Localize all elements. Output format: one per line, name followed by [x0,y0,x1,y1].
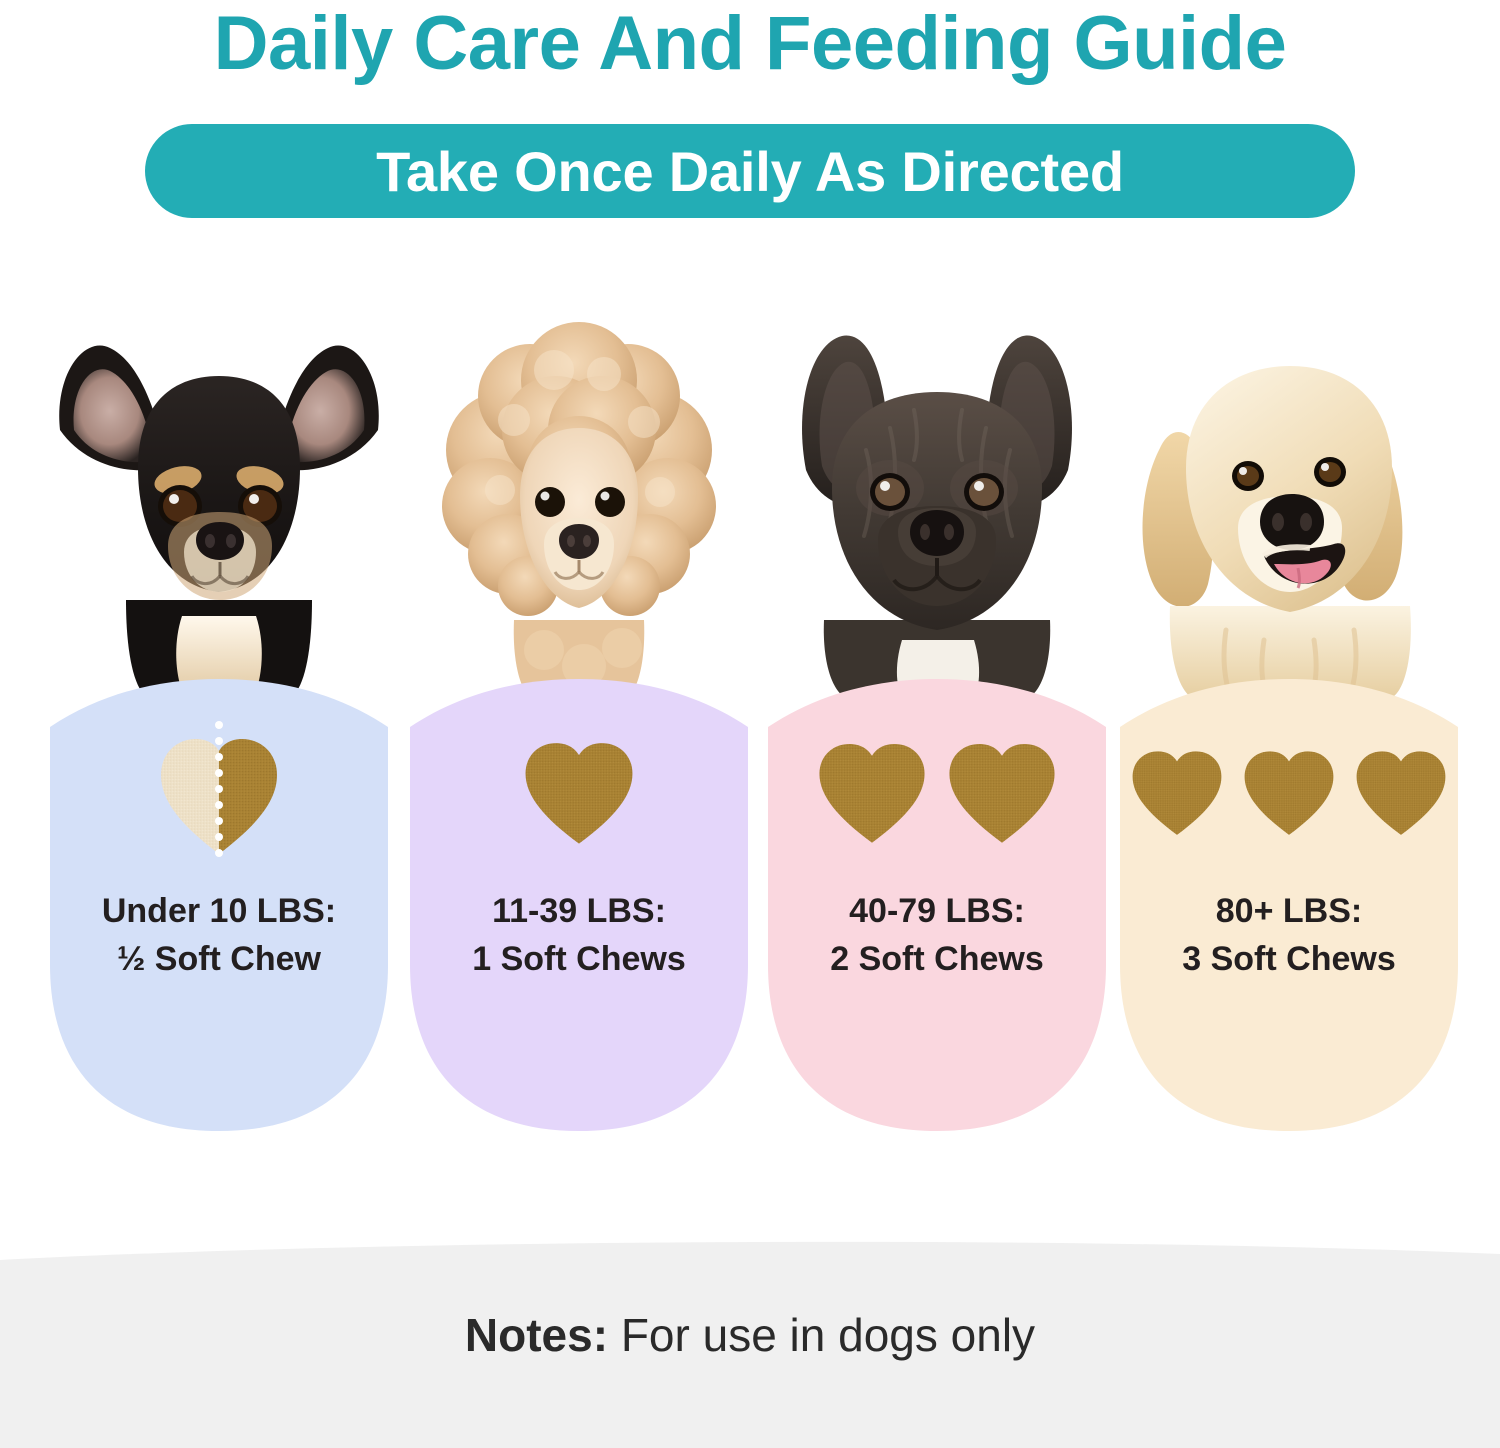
dosage-label-block: 40-79 LBS: 2 Soft Chews [830,887,1043,984]
perforation-dots [215,721,223,857]
heart-soft-chew-icon [1128,743,1226,841]
chew-group [520,727,638,857]
poodle-dog-photo [404,300,754,700]
notes-band: Notes: For use in dogs only [0,1232,1500,1448]
dosage-cards-row: Under 10 LBS: ½ Soft Chew [0,300,1500,1180]
chew-group [1128,727,1450,857]
dosage-label-block: Under 10 LBS: ½ Soft Chew [102,887,336,984]
chew-group [814,727,1060,857]
card-content: 11-39 LBS: 1 Soft Chews [404,665,754,1145]
dosage-card[interactable]: 80+ LBS: 3 Soft Chews [1114,300,1464,1180]
chihuahua-dog-photo [44,300,394,700]
weight-label: 11-39 LBS: [472,887,685,935]
weight-label: Under 10 LBS: [102,887,336,935]
dose-label: 1 Soft Chews [472,935,685,983]
page-title: Daily Care And Feeding Guide [0,4,1500,84]
dosage-card[interactable]: 11-39 LBS: 1 Soft Chews [404,300,754,1180]
dosage-card[interactable]: Under 10 LBS: ½ Soft Chew [44,300,394,1180]
heart-soft-chew-icon [944,734,1060,850]
notes-text: Notes: For use in dogs only [0,1308,1500,1362]
dose-label: 3 Soft Chews [1182,935,1395,983]
heart-soft-chew-icon [814,734,930,850]
directions-banner: Take Once Daily As Directed [145,124,1355,218]
card-content: 80+ LBS: 3 Soft Chews [1114,665,1464,1145]
dose-label: ½ Soft Chew [102,935,336,983]
dosage-label-block: 11-39 LBS: 1 Soft Chews [472,887,685,984]
dosage-label-block: 80+ LBS: 3 Soft Chews [1182,887,1395,984]
card-content: 40-79 LBS: 2 Soft Chews [762,665,1112,1145]
dose-label: 2 Soft Chews [830,935,1043,983]
card-content: Under 10 LBS: ½ Soft Chew [44,665,394,1145]
notes-label: Notes: [465,1309,608,1361]
dosage-card[interactable]: 40-79 LBS: 2 Soft Chews [762,300,1112,1180]
feeding-guide-infographic: Daily Care And Feeding Guide Take Once D… [0,0,1500,1448]
french-bulldog-photo [762,300,1112,700]
heart-soft-chew-icon [1240,743,1338,841]
heart-soft-chew-icon [520,733,638,851]
weight-label: 80+ LBS: [1182,887,1395,935]
notes-value: For use in dogs only [621,1309,1035,1361]
half-heart-soft-chew-icon [155,717,283,867]
golden-retriever-photo [1114,300,1464,700]
directions-banner-wrap: Take Once Daily As Directed [0,124,1500,218]
directions-banner-label: Take Once Daily As Directed [376,139,1124,204]
heart-soft-chew-icon [1352,743,1450,841]
weight-label: 40-79 LBS: [830,887,1043,935]
chew-group [155,727,283,857]
